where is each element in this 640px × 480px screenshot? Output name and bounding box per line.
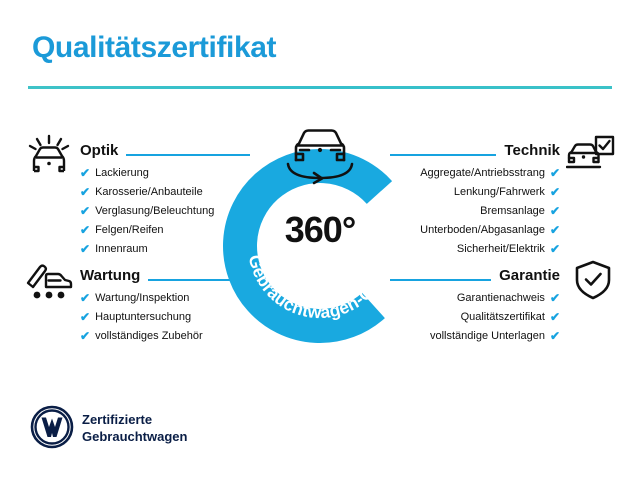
section-optik-title: Optik	[80, 143, 118, 160]
check-icon: ✔	[80, 205, 90, 217]
section-garantie-title: Garantie	[499, 268, 560, 285]
car-rotate-icon	[276, 124, 364, 186]
list-item-label: Wartung/Inspektion	[95, 293, 189, 304]
list-item-label: vollständige Unterlagen	[430, 331, 545, 342]
check-icon: ✔	[80, 292, 90, 304]
list-item-label: Unterboden/Abgasanlage	[420, 225, 545, 236]
badge-degrees-label: 360°	[222, 212, 418, 248]
list-item-label: Innenraum	[95, 244, 148, 255]
check-icon: ✔	[80, 224, 90, 236]
list-item-label: Aggregate/Antriebsstrang	[420, 168, 545, 179]
footer-line-2: Gebrauchtwagen	[82, 428, 187, 445]
list-item-label: Verglasung/Beleuchtung	[95, 206, 214, 217]
check-icon: ✔	[80, 330, 90, 342]
section-wartung-title: Wartung	[80, 268, 140, 285]
list-item-label: Karosserie/Anbauteile	[95, 187, 203, 198]
list-item-label: Hauptuntersuchung	[95, 312, 191, 323]
check-icon: ✔	[550, 224, 560, 236]
footer-brand-text: Zertifizierte Gebrauchtwagen	[82, 411, 187, 445]
list-item-label: Lackierung	[95, 168, 149, 179]
shield-check-icon	[572, 259, 618, 301]
list-item-label: Qualitätszertifikat	[461, 312, 545, 323]
check-icon: ✔	[550, 167, 560, 179]
list-item-label: Lenkung/Fahrwerk	[454, 187, 545, 198]
check-icon: ✔	[550, 330, 560, 342]
check-icon: ✔	[80, 243, 90, 255]
check-icon: ✔	[550, 205, 560, 217]
list-item-label: vollständiges Zubehör	[95, 331, 203, 342]
check-icon: ✔	[550, 311, 560, 323]
car-checkbox-icon	[566, 134, 612, 176]
section-technik-title: Technik	[504, 143, 560, 160]
list-item-label: Garantienachweis	[457, 293, 545, 304]
vw-logo-icon	[30, 405, 74, 449]
check-icon: ✔	[550, 292, 560, 304]
list-item-label: Felgen/Reifen	[95, 225, 164, 236]
list-item-label: Sicherheit/Elektrik	[457, 244, 545, 255]
list-item-label: Bremsanlage	[480, 206, 545, 217]
page-title: Qualitätszertifikat	[32, 31, 276, 65]
check-icon: ✔	[80, 167, 90, 179]
check-icon: ✔	[550, 186, 560, 198]
car-lift-wrench-icon	[24, 259, 70, 301]
header-divider	[28, 86, 612, 89]
footer-line-1: Zertifizierte	[82, 411, 187, 428]
car-shine-icon	[26, 134, 72, 176]
check-icon: ✔	[80, 186, 90, 198]
check-icon: ✔	[80, 311, 90, 323]
check-icon: ✔	[550, 243, 560, 255]
